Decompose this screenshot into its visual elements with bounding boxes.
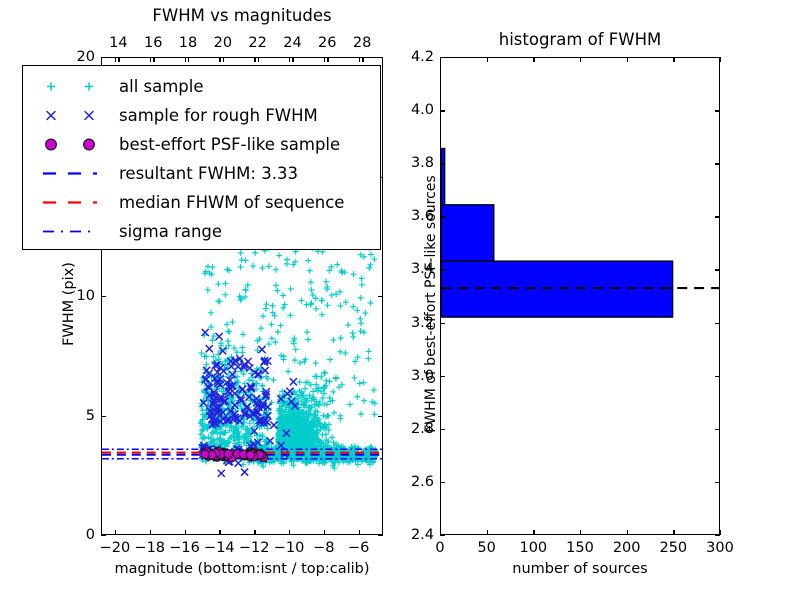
tick-mark [715, 269, 720, 270]
tick-mark [115, 530, 116, 535]
tick-mark [254, 530, 255, 535]
tick-mark [254, 57, 255, 62]
tick-mark [258, 57, 259, 62]
tick-mark [720, 530, 721, 535]
legend-entry: sample for rough FWHM [23, 101, 380, 130]
left-xtick-label: −8 [313, 540, 334, 556]
right-xtick-label: 250 [659, 540, 687, 556]
tick-mark [378, 57, 383, 58]
legend-label: all sample [119, 77, 204, 96]
left-xtick-label: −12 [239, 540, 270, 556]
tick-mark [327, 57, 328, 62]
left-ytick-label: 20 [59, 49, 95, 65]
right-ytick-label: 4.0 [396, 102, 434, 118]
legend-label: best-effort PSF-like sample [119, 135, 340, 154]
tick-mark [440, 110, 445, 111]
legend-label: median FHWM of sequence [119, 193, 344, 212]
tick-mark [715, 216, 720, 217]
tick-mark [150, 57, 151, 62]
right-xtick-label: 0 [435, 540, 444, 556]
tick-mark [292, 57, 293, 62]
legend-dashdot-line-icon [31, 217, 119, 246]
tick-mark [440, 429, 445, 430]
tick-mark [185, 530, 186, 535]
legend-box: all samplesample for rough FWHMbest-effo… [22, 65, 381, 250]
tick-mark [219, 530, 220, 535]
tick-mark [223, 57, 224, 62]
tick-mark [362, 57, 363, 62]
tick-mark [715, 163, 720, 164]
legend-plus-icon [31, 72, 119, 101]
legend-entry: resultant FWHM: 3.33 [23, 159, 380, 188]
tick-mark [324, 530, 325, 535]
left-top-xtick-label: 18 [179, 35, 197, 51]
tick-mark [118, 57, 119, 62]
right-xtick-label: 100 [519, 540, 547, 556]
tick-mark [487, 57, 488, 62]
tick-mark [580, 530, 581, 535]
tick-mark [150, 530, 151, 535]
legend-entry: best-effort PSF-like sample [23, 130, 380, 159]
right-xtick-label: 150 [566, 540, 594, 556]
tick-mark [715, 429, 720, 430]
right-x-axis-label: number of sources [440, 561, 720, 577]
tick-mark [153, 57, 154, 62]
right-y-axis-label: FWHM of best-effort PSF-like sources [423, 139, 439, 469]
left-top-xtick-label: 24 [283, 35, 301, 51]
legend-entry: all sample [23, 72, 380, 101]
tick-mark [720, 57, 721, 62]
legend-label: sample for rough FWHM [119, 106, 318, 125]
right-xtick-label: 50 [477, 540, 495, 556]
left-top-xtick-label: 28 [353, 35, 371, 51]
legend-dashed-line-icon [31, 159, 119, 188]
tick-mark [185, 57, 186, 62]
tick-mark [440, 269, 445, 270]
tick-mark [101, 535, 106, 536]
fwhm-histogram-axes [440, 57, 720, 535]
histogram-plot-canvas [441, 58, 719, 534]
tick-mark [101, 416, 106, 417]
left-ytick-label: 5 [59, 408, 95, 424]
left-x-axis-label: magnitude (bottom:isnt / top:calib) [101, 561, 383, 577]
tick-mark [440, 323, 445, 324]
tick-mark [533, 57, 534, 62]
tick-mark [715, 482, 720, 483]
tick-mark [487, 530, 488, 535]
tick-mark [101, 296, 106, 297]
left-ytick-label: 0 [59, 527, 95, 543]
left-xtick-label: −6 [348, 540, 369, 556]
tick-mark [627, 530, 628, 535]
left-xtick-label: −16 [169, 540, 200, 556]
right-xtick-label: 300 [706, 540, 734, 556]
tick-mark [188, 57, 189, 62]
left-xtick-label: −18 [134, 540, 165, 556]
legend-label: resultant FWHM: 3.33 [119, 164, 298, 183]
tick-mark [378, 296, 383, 297]
left-top-xtick-label: 26 [318, 35, 336, 51]
tick-mark [673, 57, 674, 62]
tick-mark [715, 535, 720, 536]
tick-mark [359, 57, 360, 62]
tick-mark [289, 57, 290, 62]
right-xtick-label: 200 [613, 540, 641, 556]
tick-mark [715, 57, 720, 58]
tick-mark [627, 57, 628, 62]
tick-mark [533, 530, 534, 535]
tick-mark [715, 110, 720, 111]
left-top-xtick-label: 20 [214, 35, 232, 51]
right-plot-title: histogram of FWHM [440, 30, 720, 49]
figure-canvas: FWHM vs magnitudes −20−18−16−14−12−10−8−… [0, 0, 800, 600]
tick-mark [440, 216, 445, 217]
tick-mark [673, 530, 674, 535]
tick-mark [715, 376, 720, 377]
left-xtick-label: −14 [204, 540, 235, 556]
legend-dashed-line-icon [31, 188, 119, 217]
tick-mark [289, 530, 290, 535]
tick-mark [115, 57, 116, 62]
legend-cross-icon [31, 101, 119, 130]
left-top-xtick-label: 22 [248, 35, 266, 51]
right-ytick-label: 4.2 [396, 49, 434, 65]
tick-mark [440, 163, 445, 164]
right-ytick-label: 2.4 [396, 527, 434, 543]
tick-mark [440, 57, 445, 58]
tick-mark [101, 57, 106, 58]
tick-mark [378, 535, 383, 536]
legend-entry: sigma range [23, 217, 380, 246]
right-ytick-label: 2.6 [396, 474, 434, 490]
tick-mark [580, 57, 581, 62]
tick-mark [440, 482, 445, 483]
legend-entry: median FHWM of sequence [23, 188, 380, 217]
tick-mark [378, 416, 383, 417]
left-plot-title: FWHM vs magnitudes [101, 6, 383, 25]
left-xtick-label: −20 [100, 540, 131, 556]
tick-mark [324, 57, 325, 62]
tick-mark [219, 57, 220, 62]
left-top-xtick-label: 14 [109, 35, 127, 51]
left-xtick-label: −10 [274, 540, 305, 556]
left-top-xtick-label: 16 [144, 35, 162, 51]
tick-mark [359, 530, 360, 535]
legend-circle-icon [31, 130, 119, 159]
tick-mark [440, 376, 445, 377]
legend-label: sigma range [119, 222, 222, 241]
tick-mark [440, 535, 445, 536]
tick-mark [715, 323, 720, 324]
